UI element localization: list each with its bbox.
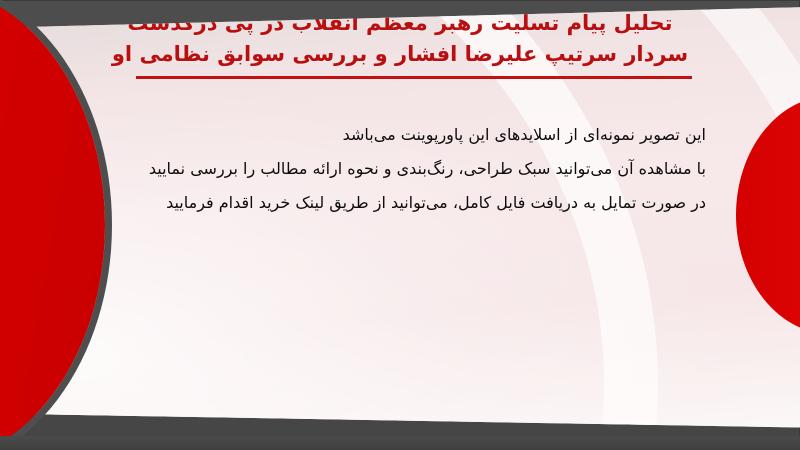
- body-text-line-1: این تصویر نمونه‌ای از اسلایدهای این پاور…: [70, 118, 706, 152]
- title-underline-rule: [136, 76, 692, 79]
- body-text-line-2: با مشاهده آن می‌توانید سبک طراحی، رنگ‌بن…: [70, 152, 706, 186]
- slide-canvas: تحلیل پیام تسلیت رهبر معظم انقلاب در پی …: [0, 0, 800, 450]
- slide-title-line-2: سردار سرتیپ علیرضا افشار و بررسی سوابق ن…: [96, 39, 704, 70]
- slide-body-text: این تصویر نمونه‌ای از اسلایدهای این پاور…: [70, 118, 706, 220]
- body-text-line-3: در صورت تمایل به دریافت فایل کامل، می‌تو…: [70, 186, 706, 220]
- left-red-lens-shape: [0, 0, 105, 450]
- presentation-slide: تحلیل پیام تسلیت رهبر معظم انقلاب در پی …: [0, 0, 800, 450]
- slide-bottom-band: [0, 436, 800, 450]
- left-red-lens-decoration: [0, 0, 105, 450]
